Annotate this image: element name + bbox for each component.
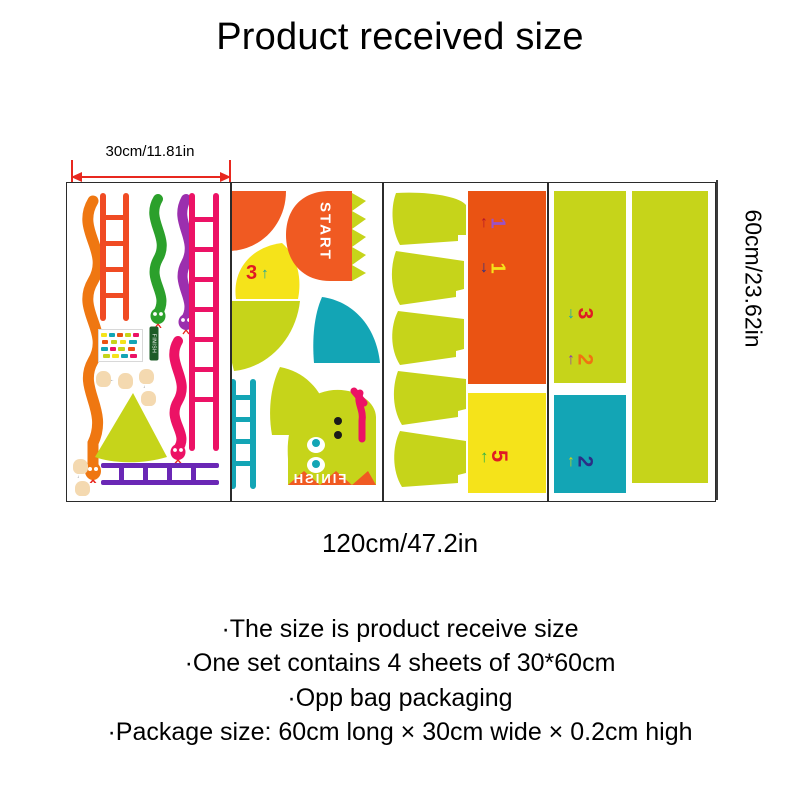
- dimension-label-width-panel: 30cm/11.81in: [62, 143, 238, 160]
- lime-segment-2: [386, 249, 468, 312]
- dimension-label-width-total: 120cm/47.2in: [150, 528, 650, 559]
- footprint-sticker-bottom: ↓: [71, 459, 97, 497]
- green-snake: [143, 193, 173, 328]
- sheet-panel-1: FINISH ←: [66, 182, 231, 502]
- dimension-label-height: 60cm/23.62in: [740, 189, 767, 369]
- page-title: Product received size: [0, 16, 800, 59]
- purple-ladder: [101, 463, 219, 485]
- sticker-sheet-strip: FINISH ←: [66, 182, 716, 502]
- number-value: 1: [488, 262, 508, 273]
- teal-number-card: [554, 395, 626, 493]
- teal-ladder: [231, 379, 256, 489]
- number-value: 1: [488, 217, 508, 228]
- handprint-sticker: ←: [96, 369, 134, 393]
- number-value: 3: [246, 263, 257, 283]
- finish-label-strip: FINISH: [150, 327, 159, 361]
- wedge-number-3: 3 ↑: [246, 263, 269, 283]
- footprint-sticker: ↓: [137, 369, 163, 407]
- teal-card-entry-1: ↑ 2: [567, 451, 591, 472]
- number-value: 2: [574, 354, 595, 366]
- game-board-thumbnail: [98, 329, 143, 362]
- sheet-panel-2: 3 ↑ START: [231, 182, 383, 502]
- lime-segment-1: [388, 191, 468, 252]
- lime-tall-strip: [632, 191, 708, 483]
- notes-list: ·The size is product receive size ·One s…: [0, 612, 800, 749]
- lime-segment-4: [388, 369, 470, 432]
- note-line: ·Package size: 60cm long × 30cm wide × 0…: [0, 715, 800, 749]
- dimension-rule-vertical: [716, 180, 718, 500]
- number-value: 5: [488, 450, 510, 462]
- note-line: ·The size is product receive size: [0, 612, 800, 646]
- number-value: 3: [574, 308, 595, 320]
- sheet-panel-3: ↑ 1 ↓ 1 ↑ 5: [383, 182, 548, 502]
- lime-card-entry-1: ↓ 3: [567, 303, 591, 324]
- pink-ladder: [189, 193, 219, 451]
- yellow-card-entry-1: ↑ 5: [480, 445, 505, 467]
- orange-ladder: [100, 193, 129, 321]
- note-line: ·One set contains 4 sheets of 30*60cm: [0, 646, 800, 680]
- note-line: ·Opp bag packaging: [0, 681, 800, 715]
- orange-card-entry-1: ↑ 1: [480, 213, 503, 233]
- sheet-panel-4: ↓ 3 ↑ 2 ↑ 2: [548, 182, 716, 502]
- dimension-arrow-horizontal: [72, 176, 230, 178]
- yellow-number-card: [468, 393, 546, 493]
- teal-wedge: [310, 295, 382, 372]
- orange-card-entry-2: ↓ 1: [480, 258, 503, 278]
- arrow-up-icon: ↑: [261, 266, 269, 281]
- lime-segment-3: [386, 309, 468, 372]
- lime-segment-5: [388, 429, 470, 496]
- product-size-infographic: Product received size 30cm/11.81in 60cm/…: [0, 0, 800, 800]
- finish-label: FINISH: [290, 471, 348, 486]
- number-value: 2: [574, 456, 595, 468]
- lime-card-entry-2: ↑ 2: [567, 349, 591, 370]
- start-label: START: [317, 197, 334, 267]
